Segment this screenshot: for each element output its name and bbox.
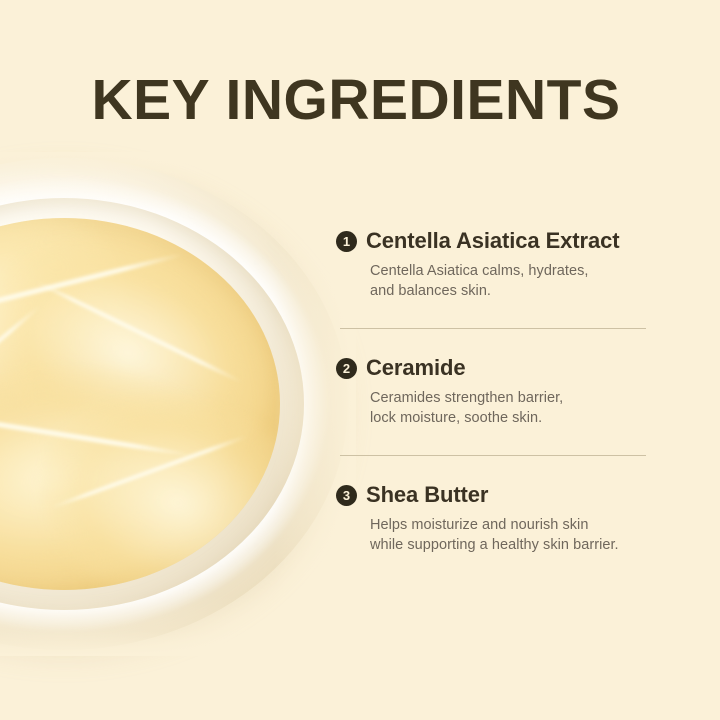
cream-shadow (0, 311, 250, 495)
ingredient-item-3: 3 Shea Butter Helps moisturize and nouri… (336, 482, 656, 555)
cream-ridge (0, 407, 193, 457)
cream-surface (0, 218, 280, 590)
ingredient-heading-row: 1 Centella Asiatica Extract (336, 228, 656, 254)
key-ingredients-graphic: KEY INGREDIENTS 1 Centella Asiatica Extr… (0, 0, 720, 720)
cream-swirl (0, 345, 242, 590)
cream-swirl (0, 218, 280, 510)
cream-jar-photo (0, 152, 356, 656)
number-badge-icon: 3 (336, 485, 357, 506)
jar-rim-gloss (0, 176, 330, 632)
cream-ridge (0, 304, 42, 436)
number-badge-icon: 1 (336, 231, 357, 252)
photo-edge-fade (0, 152, 356, 656)
ingredient-description: Centella Asiatica calms, hydrates, and b… (370, 262, 656, 301)
cream-ridge (0, 252, 184, 329)
photo-edge-fade-vertical (0, 152, 356, 656)
cream-swirl (0, 218, 156, 482)
jar-inner-lip (0, 198, 304, 610)
ingredient-name: Ceramide (366, 355, 465, 381)
cream-shadow (0, 259, 138, 508)
jar-outer-wall (0, 158, 348, 650)
cream-ridge (35, 280, 243, 384)
page-title: KEY INGREDIENTS (0, 72, 720, 129)
ingredient-item-2: 2 Ceramide Ceramides strengthen barrier,… (336, 355, 656, 428)
ingredient-item-1: 1 Centella Asiatica Extract Centella Asi… (336, 228, 656, 301)
cream-ridge (50, 434, 249, 510)
spacer (336, 329, 656, 355)
ingredient-name: Shea Butter (366, 482, 488, 508)
number-badge-icon: 2 (336, 358, 357, 379)
ingredient-list: 1 Centella Asiatica Extract Centella Asi… (336, 228, 656, 555)
ingredient-heading-row: 2 Ceramide (336, 355, 656, 381)
cream-swirl (14, 363, 280, 590)
spacer (336, 456, 656, 482)
ingredient-description: Ceramides strengthen barrier, lock moist… (370, 389, 656, 428)
ingredient-description: Helps moisturize and nourish skin while … (370, 516, 656, 555)
ingredient-name: Centella Asiatica Extract (366, 228, 619, 254)
jar-halo (0, 152, 356, 656)
ingredient-heading-row: 3 Shea Butter (336, 482, 656, 508)
